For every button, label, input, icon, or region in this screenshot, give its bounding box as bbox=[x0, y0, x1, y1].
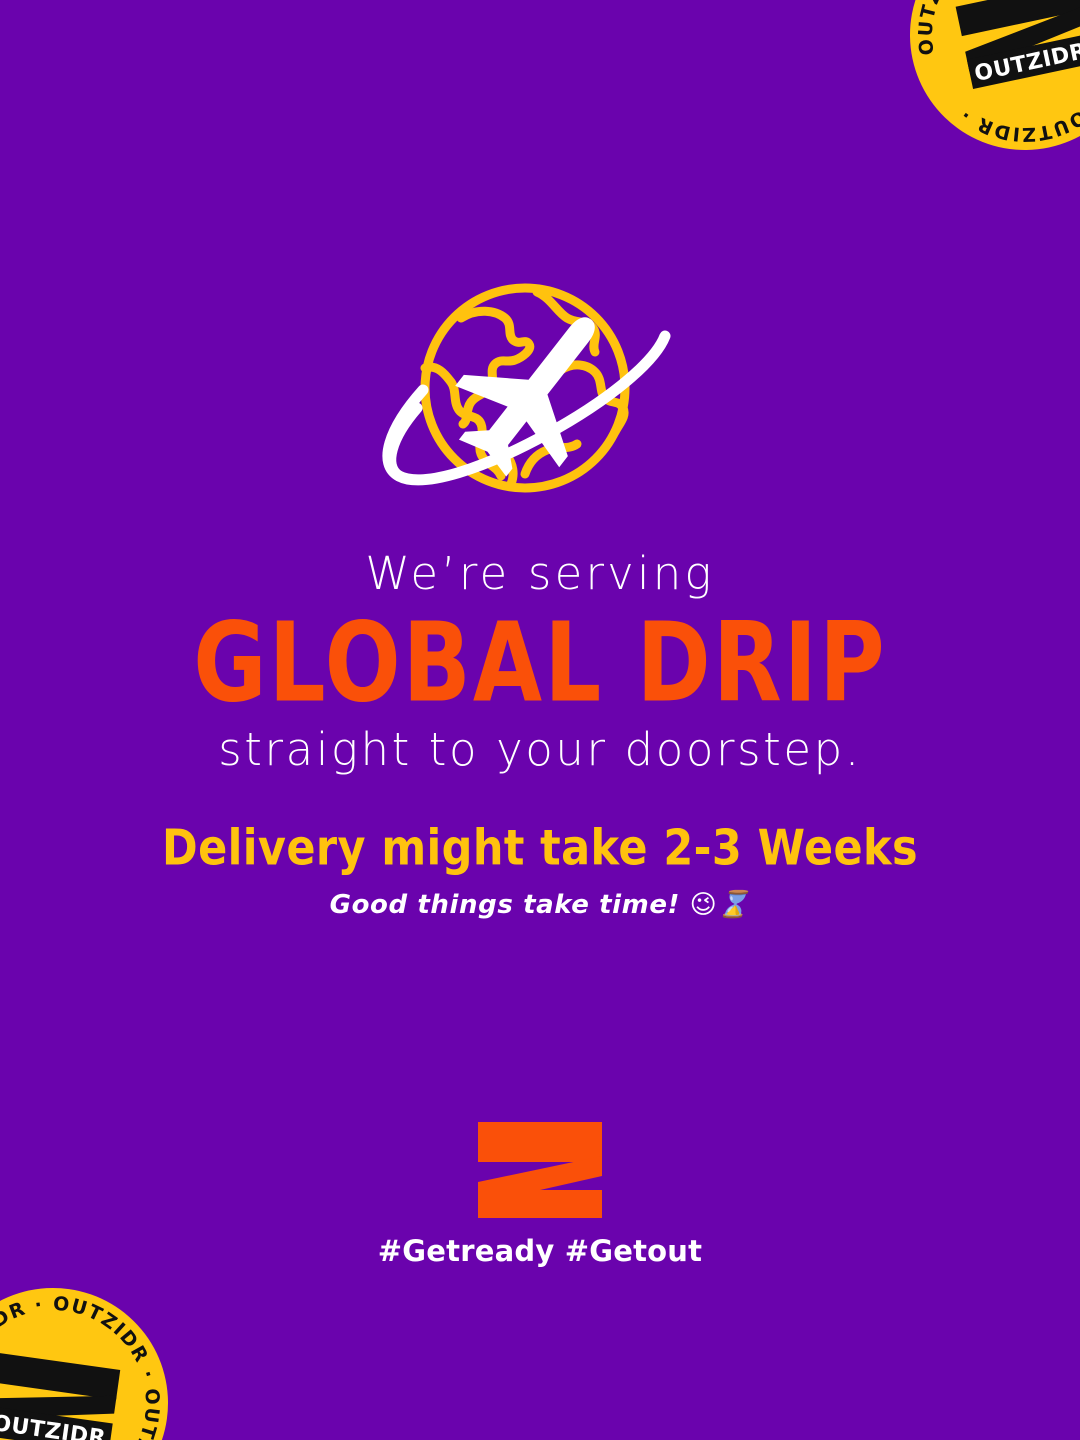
globe-airplane-illustration bbox=[365, 278, 715, 510]
footer-brand-block: #Getready #Getout bbox=[0, 1122, 1080, 1268]
delivery-note-block: Delivery might take 2-3 Weeks Good thing… bbox=[0, 820, 1080, 920]
delivery-timeframe-text: Delivery might take 2-3 Weeks bbox=[0, 820, 1080, 877]
headline-line-3: straight to your doorstep. bbox=[0, 724, 1080, 776]
headline-block: We’re serving GLOBAL DRIP straight to yo… bbox=[0, 548, 1080, 776]
delivery-subtext: Good things take time! 😉⌛ bbox=[0, 890, 1080, 920]
hashtags-text: #Getready #Getout bbox=[0, 1234, 1080, 1268]
promo-poster: OUTZIDR · OUTZIDR · OUTZIDR · OUTZIDR · … bbox=[0, 0, 1080, 1440]
outzidr-badge-top-right: OUTZIDR · OUTZIDR · OUTZIDR · OUTZIDR · … bbox=[889, 0, 1080, 171]
headline-line-1: We’re serving bbox=[0, 548, 1080, 600]
outzidr-badge-bottom-left: OUTZIDR · OUTZIDR · OUTZIDR · OUTZIDR · … bbox=[0, 1273, 183, 1440]
headline-line-2: GLOBAL DRIP bbox=[0, 606, 1080, 722]
outzidr-z-logo-icon bbox=[478, 1122, 602, 1218]
